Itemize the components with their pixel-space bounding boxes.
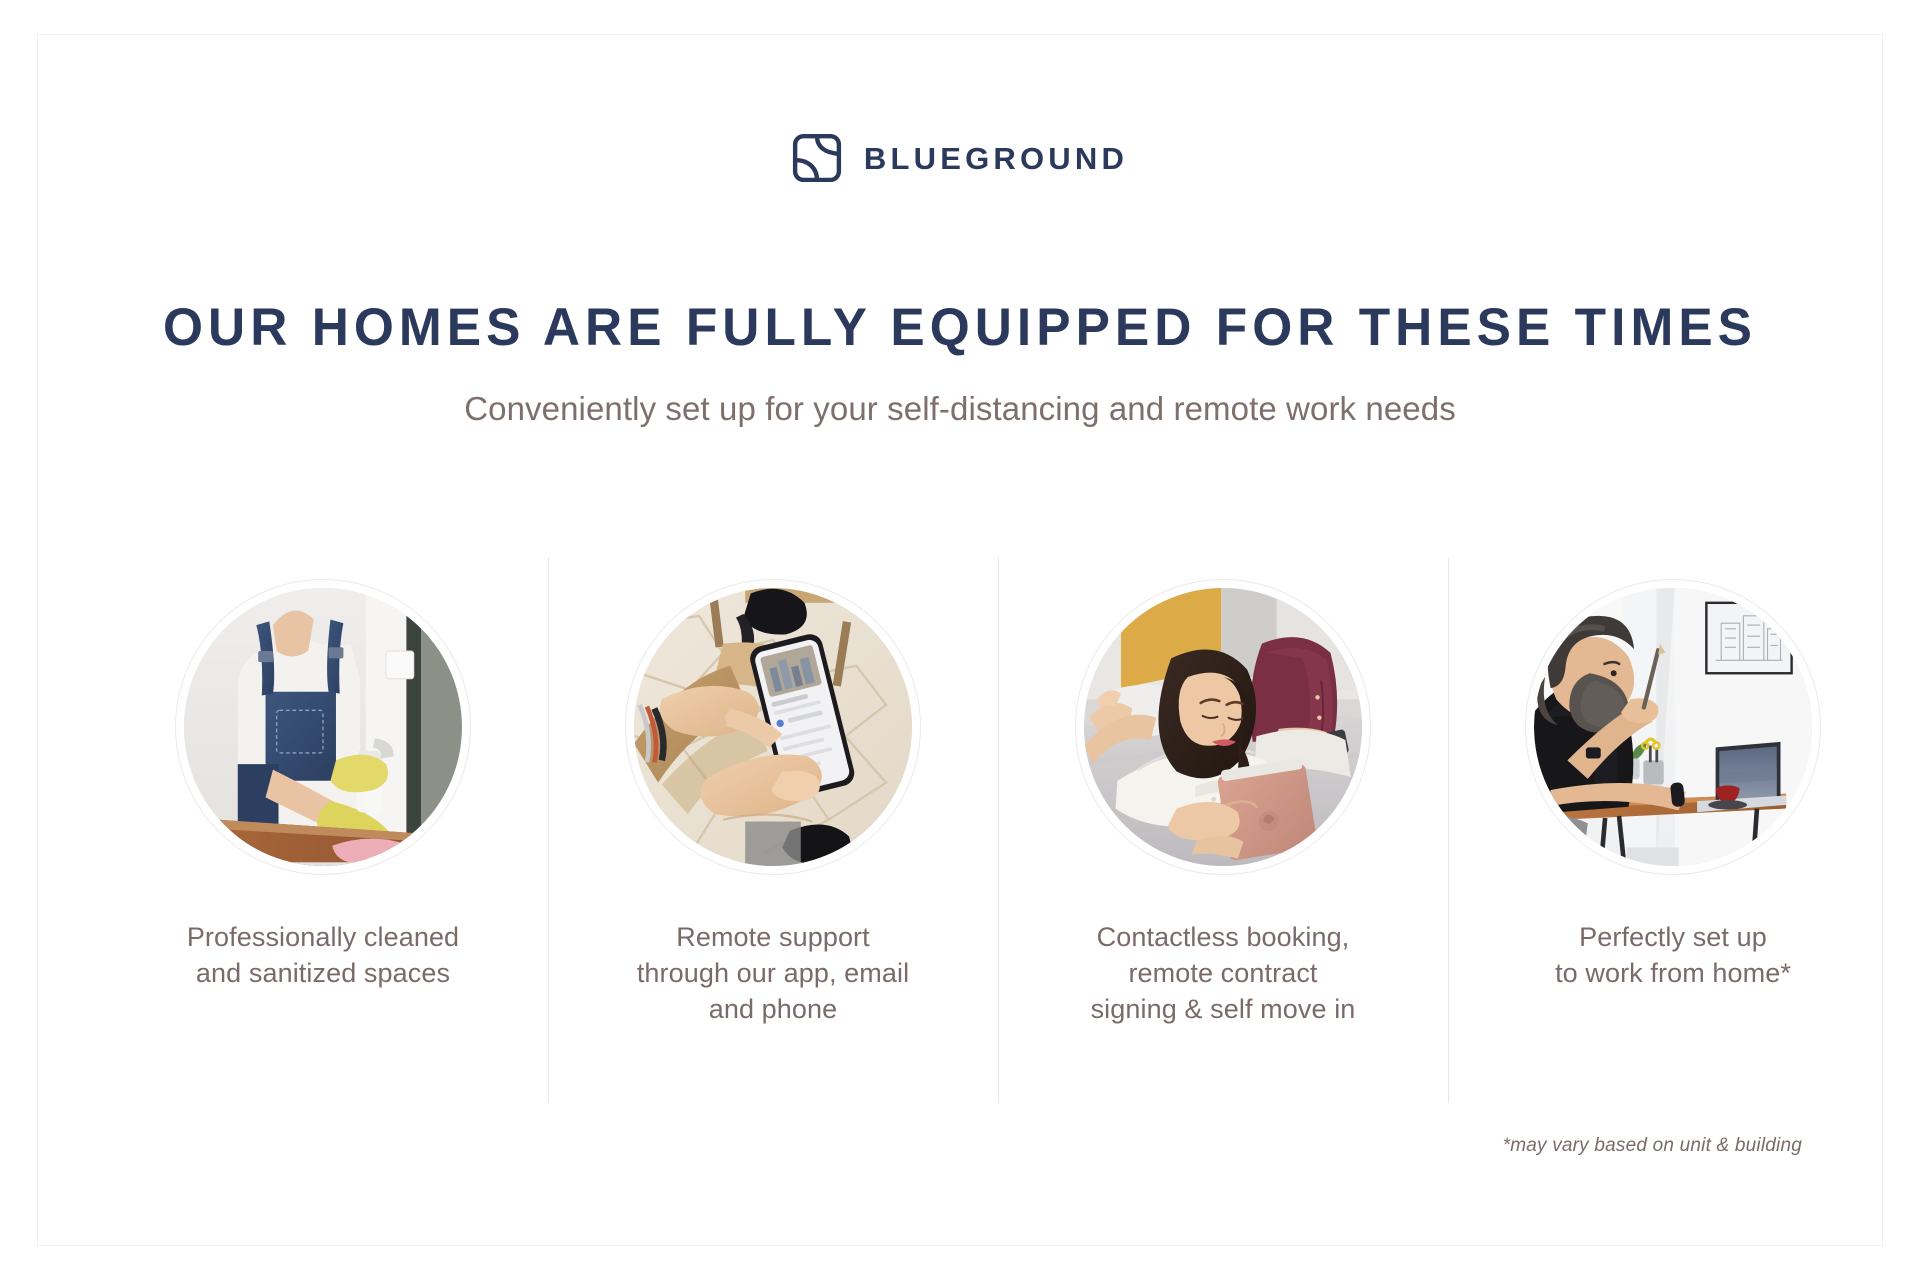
feature-caption: Perfectly set up to work from home* [1555,920,1791,992]
brand-logo: BLUEGROUND [38,133,1882,183]
page-subheadline: Conveniently set up for your self-distan… [38,390,1882,428]
blueground-square-mark-icon [792,133,842,183]
feature-caption: Remote support through our app, email an… [637,920,909,1028]
desk-photo-frame [1525,579,1821,875]
tablet-booking-photo [1084,588,1362,866]
work-from-home-desk-photo [1534,588,1812,866]
tablet-photo-frame [1075,579,1371,875]
smartphone-app-photo [634,588,912,866]
feature-caption: Professionally cleaned and sanitized spa… [187,920,459,992]
content-card: BLUEGROUND OUR HOMES ARE FULLY EQUIPPED … [37,34,1883,1246]
feature-columns: Professionally cleaned and sanitized spa… [98,557,1898,1103]
footnote-disclaimer: *may vary based on unit & building [1503,1135,1802,1157]
feature-column-contactless-booking: Contactless booking, remote contract sig… [998,557,1448,1103]
feature-column-work-from-home: Perfectly set up to work from home* [1448,557,1898,1103]
feature-column-remote-support: Remote support through our app, email an… [548,557,998,1103]
page-headline: OUR HOMES ARE FULLY EQUIPPED FOR THESE T… [66,297,1855,358]
phone-photo-frame [625,579,921,875]
cleaning-gloves-photo [184,588,462,866]
feature-caption: Contactless booking, remote contract sig… [1091,920,1356,1028]
cleaning-photo-frame [175,579,471,875]
feature-column-cleaning: Professionally cleaned and sanitized spa… [98,557,548,1103]
brand-wordmark: BLUEGROUND [864,143,1128,174]
promo-page: BLUEGROUND OUR HOMES ARE FULLY EQUIPPED … [0,0,1920,1280]
